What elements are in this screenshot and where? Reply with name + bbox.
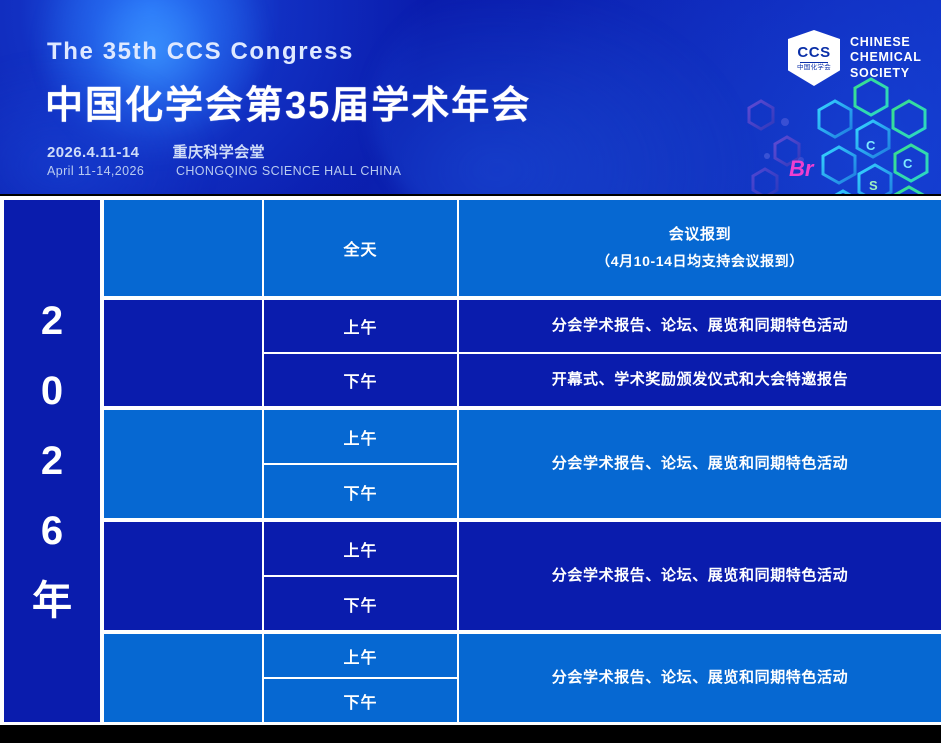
- period-cell: 全天: [264, 200, 457, 296]
- period-cell: 下午: [264, 354, 459, 406]
- schedule-row: 上午下午分会学术报告、论坛、展览和同期特色活动: [104, 634, 941, 722]
- row-body: 上午下午分会学术报告、论坛、展览和同期特色活动: [264, 522, 941, 630]
- period-cell: 上午: [264, 410, 457, 463]
- banner-venue-english: CHONGQING SCIENCE HALL CHINA: [176, 164, 401, 178]
- date-cell: [104, 634, 264, 722]
- period-cell: 下午: [264, 463, 457, 518]
- year-char: 年: [32, 581, 72, 621]
- schedule-row: 上午下午分会学术报告、论坛、展览和同期特色活动: [104, 410, 941, 518]
- row-body: 上午分会学术报告、论坛、展览和同期特色活动下午开幕式、学术奖励颁发仪式和大会特邀…: [264, 300, 941, 406]
- period-stack: 上午下午: [264, 410, 459, 518]
- activity-cell: 分会学术报告、论坛、展览和同期特色活动: [459, 300, 941, 352]
- schedule-slot: 上午分会学术报告、论坛、展览和同期特色活动: [264, 300, 941, 352]
- period-cell: 上午: [264, 300, 459, 352]
- activity-cell: 分会学术报告、论坛、展览和同期特色活动: [459, 634, 941, 722]
- period-stack: 全天: [264, 200, 459, 296]
- schedule-table: 2026年 全天会议报到（4月10-14日均支持会议报到）上午分会学术报告、论坛…: [0, 196, 941, 725]
- molecule-label-c1: C: [866, 138, 876, 153]
- period-stack: 上午下午: [264, 634, 459, 722]
- period-cell: 下午: [264, 575, 457, 630]
- date-cell: [104, 200, 264, 296]
- period-stack: 上午下午: [264, 522, 459, 630]
- activity-cell: 分会学术报告、论坛、展览和同期特色活动: [459, 410, 941, 518]
- activity-text: 分会学术报告、论坛、展览和同期特色活动: [552, 667, 848, 690]
- congress-title-chinese: 中国化学会第35届学术年会: [45, 74, 531, 129]
- activity-text: 分会学术报告、论坛、展览和同期特色活动: [552, 565, 848, 588]
- date-cell: [104, 522, 264, 630]
- schedule-row: 全天会议报到（4月10-14日均支持会议报到）: [104, 200, 941, 296]
- activity-text: 分会学术报告、论坛、展览和同期特色活动: [552, 453, 848, 476]
- ccs-name-line1: CHINESE: [850, 35, 922, 50]
- congress-title-english: The 35th CCS Congress: [47, 38, 354, 66]
- year-char: 2: [41, 441, 63, 481]
- row-body: 上午下午分会学术报告、论坛、展览和同期特色活动: [264, 634, 941, 722]
- header-banner: The 35th CCS Congress 中国化学会第35届学术年会 2026…: [0, 0, 941, 194]
- activity-note: （4月10-14日均支持会议报到）: [596, 251, 804, 272]
- molecule-label-s: S: [869, 178, 878, 193]
- ccs-acronym: CCS: [797, 45, 830, 60]
- year-column: 2026年: [4, 200, 100, 722]
- schedule-row: 上午分会学术报告、论坛、展览和同期特色活动下午开幕式、学术奖励颁发仪式和大会特邀…: [104, 300, 941, 406]
- banner-date-english: April 11-14,2026: [47, 164, 144, 178]
- activity-cell: 开幕式、学术奖励颁发仪式和大会特邀报告: [459, 354, 941, 406]
- activity-text: 会议报到: [669, 224, 731, 247]
- molecule-sphere-icon: Br C C S: [727, 64, 941, 194]
- row-body: 全天会议报到（4月10-14日均支持会议报到）: [264, 200, 941, 296]
- date-cell: [104, 410, 264, 518]
- schedule-row: 上午下午分会学术报告、论坛、展览和同期特色活动: [104, 522, 941, 630]
- period-cell: 上午: [264, 522, 457, 575]
- schedule-slot: 下午开幕式、学术奖励颁发仪式和大会特邀报告: [264, 352, 941, 406]
- banner-venue-chinese: 重庆科学会堂: [173, 144, 265, 161]
- year-char: 0: [41, 371, 63, 411]
- year-char: 6: [41, 511, 63, 551]
- banner-meta-english: April 11-14,2026 CHONGQING SCIENCE HALL …: [47, 164, 401, 178]
- activity-cell: 分会学术报告、论坛、展览和同期特色活动: [459, 522, 941, 630]
- date-cell: [104, 300, 264, 406]
- schedule-rows: 全天会议报到（4月10-14日均支持会议报到）上午分会学术报告、论坛、展览和同期…: [104, 196, 941, 725]
- year-char: 2: [41, 301, 63, 341]
- molecule-label-br: Br: [789, 156, 815, 181]
- congress-schedule-poster: The 35th CCS Congress 中国化学会第35届学术年会 2026…: [0, 0, 941, 743]
- molecule-label-c2: C: [903, 156, 913, 171]
- activity-cell: 会议报到（4月10-14日均支持会议报到）: [459, 200, 941, 296]
- period-cell: 下午: [264, 677, 457, 722]
- banner-date-chinese: 2026.4.11-14: [47, 144, 139, 161]
- period-cell: 上午: [264, 634, 457, 677]
- row-body: 上午下午分会学术报告、论坛、展览和同期特色活动: [264, 410, 941, 518]
- logo-divider: [800, 62, 828, 63]
- banner-meta-chinese: 2026.4.11-14 重庆科学会堂: [47, 141, 265, 162]
- molecule-svg: Br C C S: [727, 64, 941, 194]
